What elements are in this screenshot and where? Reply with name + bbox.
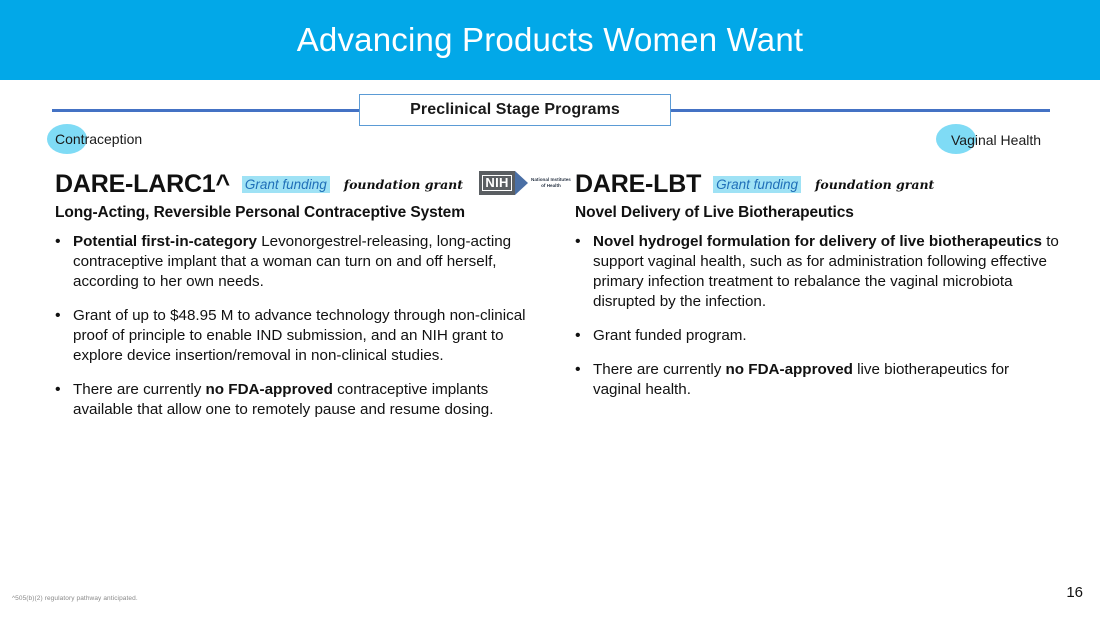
- bullet-item: •There are currently no FDA-approved liv…: [575, 360, 1060, 400]
- bullet-item: •Grant funded program.: [575, 326, 1060, 346]
- program-headline: DARE-LARC1^ Grant funding foundation gra…: [55, 170, 545, 198]
- bullet-item: •Novel hydrogel formulation for delivery…: [575, 232, 1060, 312]
- grant-funding-tag: Grant funding: [713, 176, 801, 193]
- nih-logo-mark: NIH: [479, 171, 515, 195]
- bullet-marker-icon: •: [575, 360, 593, 400]
- bullet-item: •There are currently no FDA-approved con…: [55, 380, 545, 420]
- bullet-text-run: Grant of up to $48.95 M to advance techn…: [73, 307, 526, 364]
- bullet-text: There are currently no FDA-approved live…: [593, 360, 1060, 400]
- program-subtitle: Long-Acting, Reversible Personal Contrac…: [55, 204, 545, 222]
- program-name: DARE-LARC1^: [55, 170, 230, 198]
- bullet-text-emphasis: no FDA-approved: [206, 381, 333, 398]
- bullet-marker-icon: •: [55, 380, 73, 420]
- program-bullet-list: •Novel hydrogel formulation for delivery…: [575, 232, 1060, 400]
- program-bullet-list: •Potential first-in-category Levonorgest…: [55, 232, 545, 420]
- program-column-left: DARE-LARC1^ Grant funding foundation gra…: [55, 170, 545, 434]
- bullet-text-emphasis: Potential first-in-category: [73, 233, 257, 250]
- page-number: 16: [1066, 584, 1083, 601]
- bullet-text: Novel hydrogel formulation for delivery …: [593, 232, 1060, 312]
- bullet-text: Grant of up to $48.95 M to advance techn…: [73, 306, 545, 366]
- nih-logo: NIH National Institutes of Health: [479, 171, 571, 195]
- bullet-text: Grant funded program.: [593, 326, 1060, 346]
- bullet-text: There are currently no FDA-approved cont…: [73, 380, 545, 420]
- bullet-text-run: Grant funded program.: [593, 327, 747, 344]
- foundation-grant-tag: foundation grant: [815, 177, 934, 192]
- program-column-right: DARE-LBT Grant funding foundation grant …: [575, 170, 1060, 414]
- nih-logo-wordmark: National Institutes of Health: [531, 177, 571, 189]
- bullet-marker-icon: •: [55, 306, 73, 366]
- footnote: ^505(b)(2) regulatory pathway anticipate…: [12, 595, 138, 602]
- nih-chevron-icon: [515, 171, 528, 195]
- nih-logo-mark-text: NIH: [482, 175, 511, 191]
- section-title-box: Preclinical Stage Programs: [359, 94, 671, 126]
- bullet-text-emphasis: no FDA-approved: [726, 361, 853, 378]
- bullet-marker-icon: •: [55, 232, 73, 292]
- bullet-marker-icon: •: [575, 326, 593, 346]
- nih-logo-wordmark-line2: of Health: [541, 183, 561, 188]
- bullet-text: Potential first-in-category Levonorgestr…: [73, 232, 545, 292]
- category-label-vaginal-health: Vaginal Health: [951, 125, 1041, 155]
- bullet-item: •Potential first-in-category Levonorgest…: [55, 232, 545, 292]
- program-name: DARE-LBT: [575, 170, 701, 198]
- section-title-label: Preclinical Stage Programs: [410, 101, 620, 119]
- nih-logo-wordmark-line1: National Institutes: [531, 177, 571, 182]
- bullet-text-run: There are currently: [593, 361, 726, 378]
- bullet-marker-icon: •: [575, 232, 593, 312]
- bullet-item: •Grant of up to $48.95 M to advance tech…: [55, 306, 545, 366]
- page-title: Advancing Products Women Want: [0, 0, 1100, 80]
- category-label-contraception: Contraception: [55, 124, 142, 154]
- program-subtitle: Novel Delivery of Live Biotherapeutics: [575, 204, 1060, 222]
- bullet-text-emphasis: Novel hydrogel formulation for delivery …: [593, 233, 1042, 250]
- program-headline: DARE-LBT Grant funding foundation grant: [575, 170, 1060, 198]
- bullet-text-run: There are currently: [73, 381, 206, 398]
- grant-funding-tag: Grant funding: [242, 176, 330, 193]
- foundation-grant-tag: foundation grant: [344, 177, 463, 192]
